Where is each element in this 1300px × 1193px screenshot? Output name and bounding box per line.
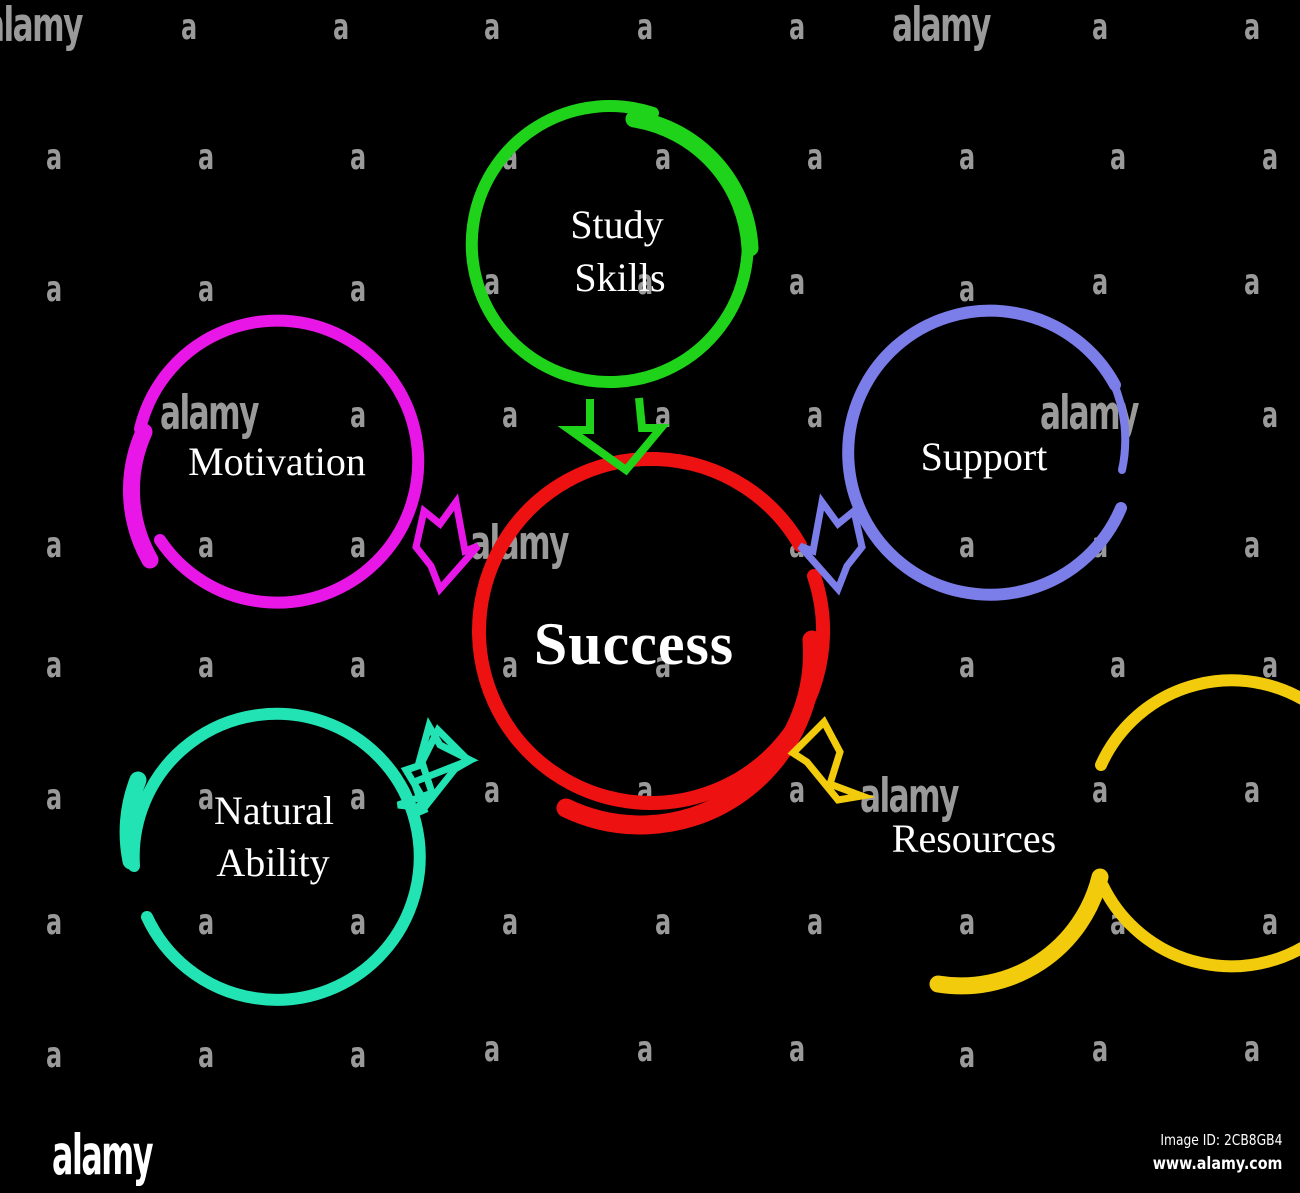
node-study-skills[interactable]: Study Skills — [472, 106, 750, 382]
success-label: Success — [534, 611, 734, 677]
footer-meta: Image ID: 2CB8GB4 www.alamy.com — [1128, 1130, 1282, 1176]
image-id-text: Image ID: 2CB8GB4 — [1155, 1130, 1282, 1150]
arrow-natural-ability-to-success — [398, 726, 470, 816]
node-success[interactable]: Success — [479, 459, 823, 825]
support-ring-accent — [1113, 382, 1125, 470]
resources-ring-accent — [938, 877, 1100, 986]
node-motivation[interactable]: Motivation — [131, 321, 418, 603]
alamy-url-text[interactable]: www.alamy.com — [1152, 1153, 1282, 1176]
node-support[interactable]: Support — [848, 311, 1125, 595]
support-label: Support — [921, 434, 1048, 479]
study-skills-label-line2: Skills — [574, 255, 665, 300]
resources-label: Resources — [892, 816, 1056, 861]
arrow-motivation-to-success — [416, 502, 478, 589]
arrow-resources-to-success — [793, 722, 862, 800]
natural-ability-label-line2: Ability — [216, 840, 329, 885]
success-diagram: Study Skills Motivation Support Natural — [0, 0, 1300, 1120]
node-natural-ability[interactable]: Natural Ability — [128, 714, 420, 1000]
alamy-logo: alamy — [52, 1129, 152, 1184]
motivation-label: Motivation — [188, 439, 366, 484]
natural-ability-label-line1: Natural — [214, 788, 334, 833]
screenshot-root: alamyaaaaaalamyaaaaaaaaaaaaaaaaaaaaalamy… — [0, 0, 1300, 1193]
natural-ability-ring-accent — [128, 780, 138, 861]
node-resources[interactable]: Resources — [892, 680, 1300, 986]
motivation-ring-accent — [131, 432, 150, 560]
study-skills-label-line1: Study — [570, 202, 663, 247]
resources-ring — [1101, 680, 1300, 966]
diagram-canvas: alamyaaaaaalamyaaaaaaaaaaaaaaaaaaaaalamy… — [0, 0, 1300, 1120]
alamy-footer-bar: alamy Image ID: 2CB8GB4 www.alamy.com — [0, 1120, 1300, 1193]
